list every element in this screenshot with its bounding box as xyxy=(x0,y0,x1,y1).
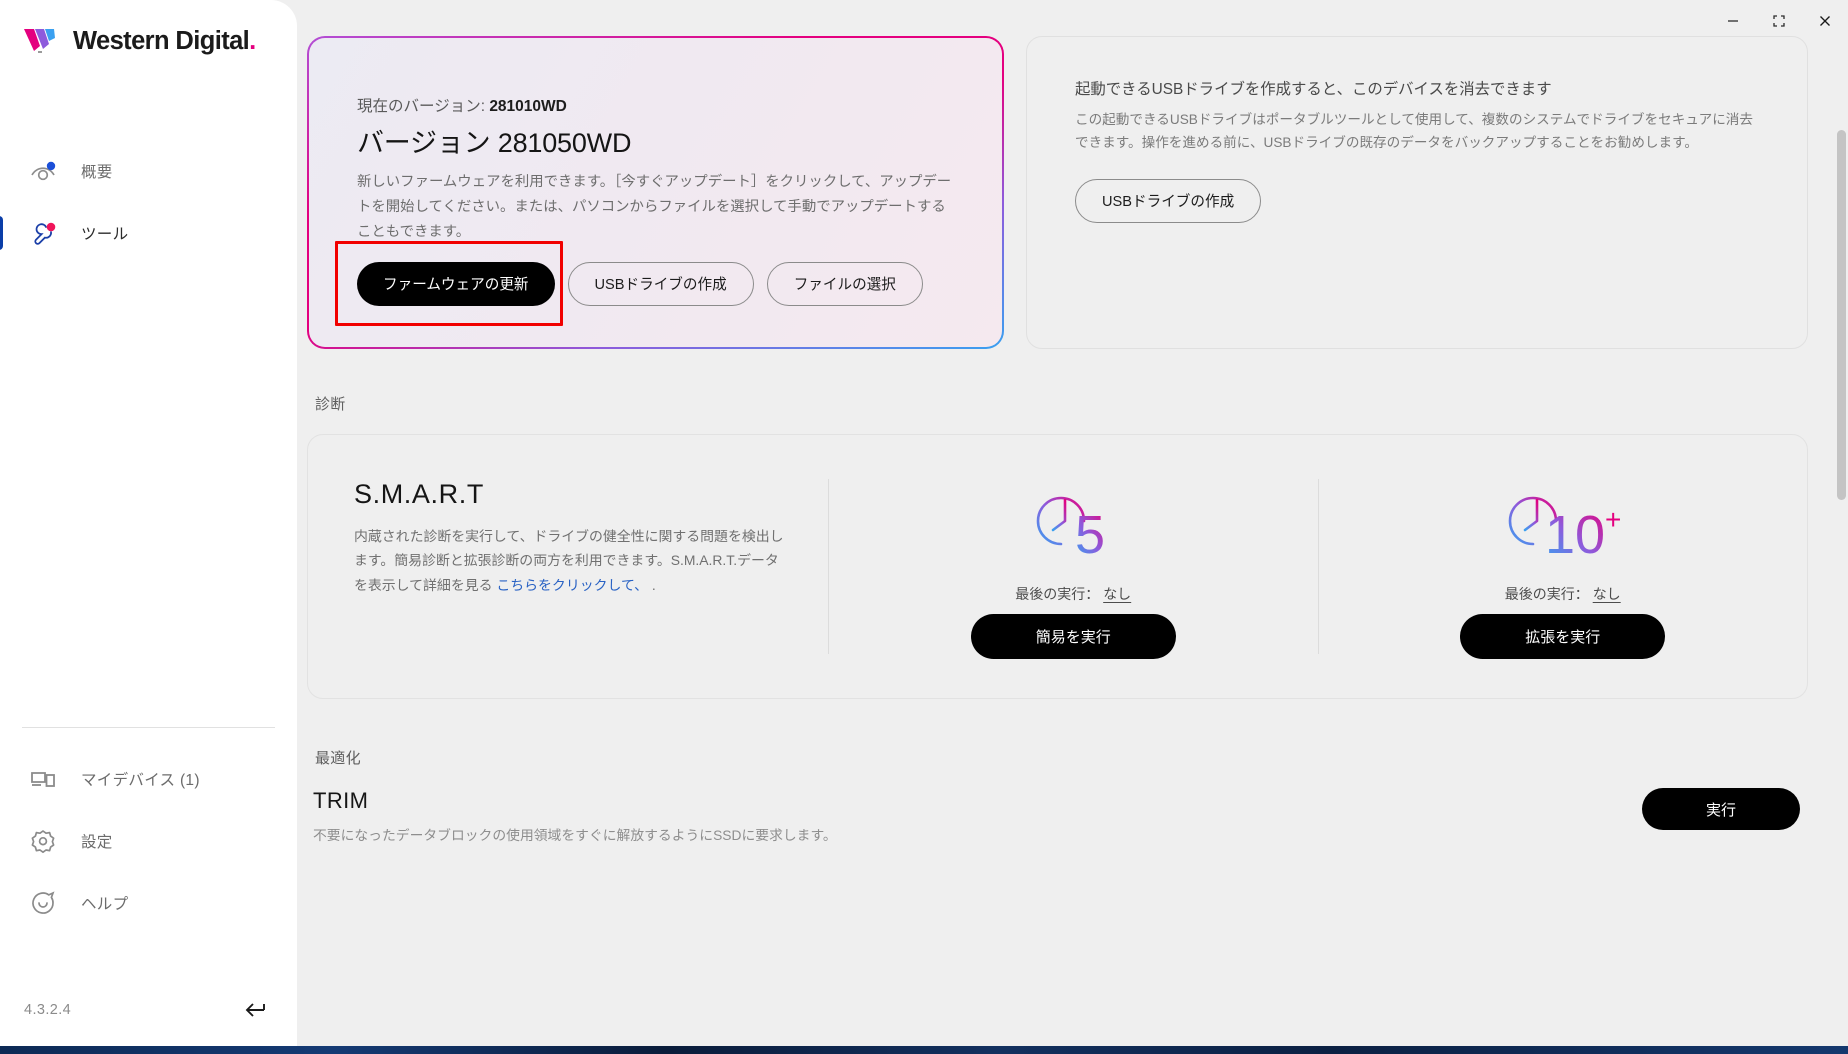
firmware-description: 新しいファームウェアを利用できます。［今すぐアップデート］をクリックして、アップ… xyxy=(357,170,954,246)
short-test-last-run: 最後の実行： なし xyxy=(1015,584,1131,604)
extended-test-last-run-label: 最後の実行： xyxy=(1505,586,1589,602)
firmware-button-row: ファームウェアの更新 USBドライブの作成 ファイルの選択 xyxy=(357,262,954,306)
svg-text:5: 5 xyxy=(1075,505,1105,565)
sidebar-item-settings[interactable]: 設定 xyxy=(0,810,297,872)
run-short-test-button[interactable]: 簡易を実行 xyxy=(971,614,1176,659)
current-version-value: 281010WD xyxy=(489,98,567,115)
usb-card-create-button[interactable]: USBドライブの作成 xyxy=(1075,179,1261,223)
smart-description-part2: . xyxy=(648,577,656,593)
overview-eye-icon xyxy=(28,156,58,186)
usb-card-title-text: 起動できるUSBドライブを作成すると、このデバイスを消去できます xyxy=(1075,81,1552,98)
run-extended-test-button[interactable]: 拡張を実行 xyxy=(1460,614,1665,659)
tools-wrench-icon xyxy=(28,218,58,248)
maximize-icon[interactable] xyxy=(1756,0,1802,42)
brand-logo: Western Digital. xyxy=(0,0,297,58)
current-version-row: 現在のバージョン: 281010WD xyxy=(357,94,954,116)
sidebar-item-tools[interactable]: ツール xyxy=(0,202,297,264)
collapse-arrow-icon[interactable] xyxy=(239,993,273,1027)
sidebar-divider xyxy=(22,727,275,728)
smart-details-link[interactable]: こちらをクリックして、 xyxy=(496,577,648,593)
scrollbar-thumb[interactable] xyxy=(1837,130,1846,500)
sidebar-item-help[interactable]: ヘルプ xyxy=(0,872,297,934)
sidebar-nav-secondary: マイデバイス (1) 設定 ヘルプ xyxy=(0,727,297,934)
content-scrollbar[interactable] xyxy=(1837,46,1846,926)
extended-test-last-run: 最後の実行： なし xyxy=(1505,584,1621,604)
main-content: 現在のバージョン: 281010WD バージョン 281050WD 新しいファー… xyxy=(297,0,1848,1054)
short-test-column: 5 最後の実行： なし 簡易を実行 xyxy=(829,435,1318,698)
short-test-duration: 5 xyxy=(1073,503,1121,570)
usb-card-description: この起動できるUSBドライブはポータブルツールとして使用して、複数のシステムでド… xyxy=(1075,109,1765,154)
firmware-card-inner: 現在のバージョン: 281010WD バージョン 281050WD 新しいファー… xyxy=(309,38,1002,347)
select-file-button[interactable]: ファイルの選択 xyxy=(767,262,923,306)
smart-info-pane: S.M.A.R.T 内蔵された診断を実行して、ドライブの健全性に関する問題を検出… xyxy=(308,435,828,698)
trim-description: 不要になったデータブロックの使用領域をすぐに解放するようにSSDに要求します。 xyxy=(313,824,837,844)
short-test-last-run-value: なし xyxy=(1103,586,1131,602)
os-taskbar xyxy=(0,1046,1848,1054)
diagnostics-section-label: 診断 xyxy=(315,393,1808,414)
window-controls xyxy=(1710,0,1848,42)
my-devices-icon xyxy=(28,764,58,794)
short-test-last-run-label: 最後の実行： xyxy=(1015,586,1099,602)
smart-heading: S.M.A.R.T xyxy=(354,479,784,510)
minimize-icon[interactable] xyxy=(1710,0,1756,42)
svg-text:10: 10 xyxy=(1545,505,1605,565)
content-scroll-area: 現在のバージョン: 281010WD バージョン 281050WD 新しいファー… xyxy=(307,36,1808,1054)
extended-test-clock: 10 + xyxy=(1497,480,1629,564)
sidebar-item-my-devices[interactable]: マイデバイス (1) xyxy=(0,748,297,810)
sidebar-item-overview-label: 概要 xyxy=(81,160,113,182)
svg-text:+: + xyxy=(1605,504,1621,535)
help-chat-icon xyxy=(28,888,58,918)
short-test-clock: 5 xyxy=(1025,480,1121,564)
smart-description: 内蔵された診断を実行して、ドライブの健全性に関する問題を検出します。簡易診断と拡… xyxy=(354,524,784,597)
trim-section: TRIM 不要になったデータブロックの使用領域をすぐに解放するようにSSDに要求… xyxy=(307,788,1808,844)
run-trim-button[interactable]: 実行 xyxy=(1642,788,1800,830)
western-digital-logo-icon xyxy=(22,24,64,58)
create-usb-drive-button[interactable]: USBドライブの作成 xyxy=(568,262,754,306)
app-version-label: 4.3.2.4 xyxy=(24,1002,71,1018)
sidebar: Western Digital. 概要 xyxy=(0,0,297,1046)
optimization-section-label: 最適化 xyxy=(315,747,1808,768)
bootable-usb-card: 起動できるUSBドライブを作成すると、このデバイスを消去できます この起動できる… xyxy=(1026,36,1808,349)
close-icon[interactable] xyxy=(1802,0,1848,42)
brand-dot: . xyxy=(249,27,256,55)
sidebar-item-help-label: ヘルプ xyxy=(81,892,128,914)
new-version-title: バージョン 281050WD xyxy=(357,121,954,160)
smart-diagnostics-card: S.M.A.R.T 内蔵された診断を実行して、ドライブの健全性に関する問題を検出… xyxy=(307,434,1808,699)
settings-gear-icon xyxy=(28,826,58,856)
top-cards-row: 現在のバージョン: 281010WD バージョン 281050WD 新しいファー… xyxy=(307,36,1808,349)
update-firmware-button[interactable]: ファームウェアの更新 xyxy=(357,262,555,306)
trim-text-block: TRIM 不要になったデータブロックの使用領域をすぐに解放するようにSSDに要求… xyxy=(313,788,837,844)
extended-test-last-run-value: なし xyxy=(1593,586,1621,602)
extended-test-duration: 10 + xyxy=(1543,503,1629,570)
usb-card-title: 起動できるUSBドライブを作成すると、このデバイスを消去できます xyxy=(1075,77,1765,103)
brand-name: Western Digital. xyxy=(73,27,256,56)
sidebar-item-overview[interactable]: 概要 xyxy=(0,140,297,202)
app-window: Western Digital. 概要 xyxy=(0,0,1848,1054)
firmware-update-card: 現在のバージョン: 281010WD バージョン 281050WD 新しいファー… xyxy=(307,36,1004,349)
sidebar-item-my-devices-label: マイデバイス (1) xyxy=(81,768,200,790)
trim-title: TRIM xyxy=(313,788,837,814)
sidebar-item-settings-label: 設定 xyxy=(81,830,113,852)
extended-test-column: 10 + 最後の実行： なし 拡張を実行 xyxy=(1319,435,1808,698)
sidebar-footer: 4.3.2.4 xyxy=(0,974,297,1046)
sidebar-item-tools-label: ツール xyxy=(81,222,128,244)
current-version-label: 現在のバージョン: xyxy=(357,98,485,115)
sidebar-nav-primary: 概要 ツール xyxy=(0,140,297,264)
